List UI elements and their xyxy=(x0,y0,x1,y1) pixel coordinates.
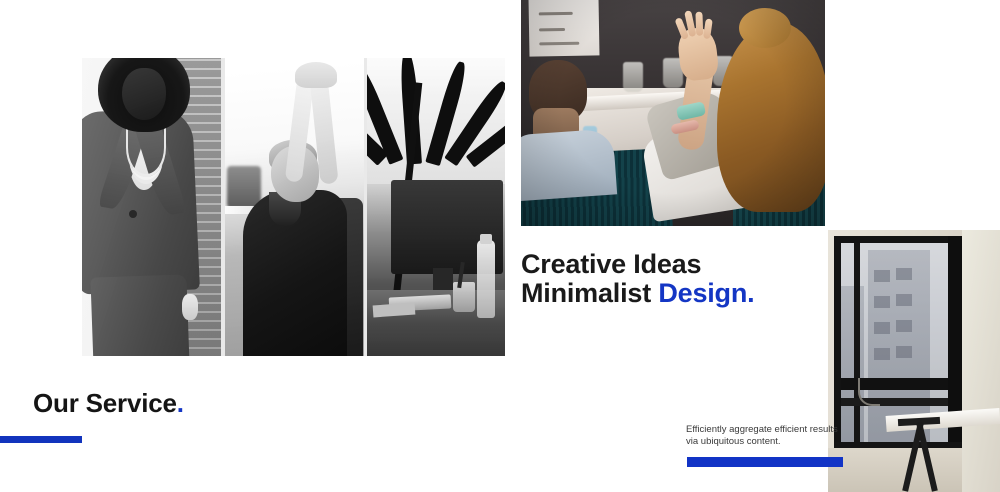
grayscale-team-collage xyxy=(82,58,505,356)
building-window-5 xyxy=(874,322,890,334)
background-monitor xyxy=(227,166,261,208)
collage-panel-businesswoman xyxy=(82,58,221,356)
window-mullion-vertical xyxy=(854,236,860,450)
window-frame-left xyxy=(834,236,841,450)
raised-arms xyxy=(291,62,343,182)
window-sill xyxy=(828,448,974,492)
meeting-audience-photo xyxy=(521,0,825,226)
building-window-1 xyxy=(874,270,890,282)
photo-vignette xyxy=(521,0,825,226)
headline-line-2: Minimalist Design. xyxy=(521,279,754,308)
building-window-8 xyxy=(896,346,912,358)
service-section-title: Our Service. xyxy=(33,388,184,419)
skirt xyxy=(90,274,189,356)
arm-right xyxy=(309,75,338,184)
window-frame-top xyxy=(834,236,962,243)
clasped-hands xyxy=(295,62,337,88)
jacket-button xyxy=(129,210,137,218)
service-title-text: Our Service xyxy=(33,388,177,418)
presentation-slide: Creative Ideas Minimalist Design. Our Se… xyxy=(0,0,1000,492)
headline-accent-word: Design. xyxy=(658,278,754,308)
window-transom xyxy=(834,378,962,390)
caption-accent-rule xyxy=(687,457,843,467)
headline-line-2-prefix: Minimalist xyxy=(521,278,658,308)
headline: Creative Ideas Minimalist Design. xyxy=(521,250,754,308)
building-window-7 xyxy=(874,348,890,360)
headline-line-1-text: Creative Ideas xyxy=(521,249,701,279)
water-bottle xyxy=(477,240,495,318)
collage-panel-desk-plant xyxy=(367,58,505,356)
collage-panel-man-stretching xyxy=(225,58,364,356)
building-window-6 xyxy=(896,320,912,332)
service-accent-rule xyxy=(0,436,82,443)
building-window-4 xyxy=(896,294,912,306)
headline-line-1: Creative Ideas xyxy=(521,250,754,279)
office-window-photo xyxy=(828,230,1000,492)
building-window-2 xyxy=(896,268,912,280)
window-transom-lower xyxy=(834,398,962,406)
side-wall xyxy=(962,230,1000,492)
hand xyxy=(182,294,198,320)
bottle-cap xyxy=(480,234,492,244)
face xyxy=(122,68,166,120)
building-window-3 xyxy=(874,296,890,308)
window-cord xyxy=(858,378,880,406)
monitor-stand xyxy=(433,268,453,290)
service-title-accent-dot: . xyxy=(177,388,184,418)
caption-text: Efficiently aggregate efficient results … xyxy=(686,424,838,447)
